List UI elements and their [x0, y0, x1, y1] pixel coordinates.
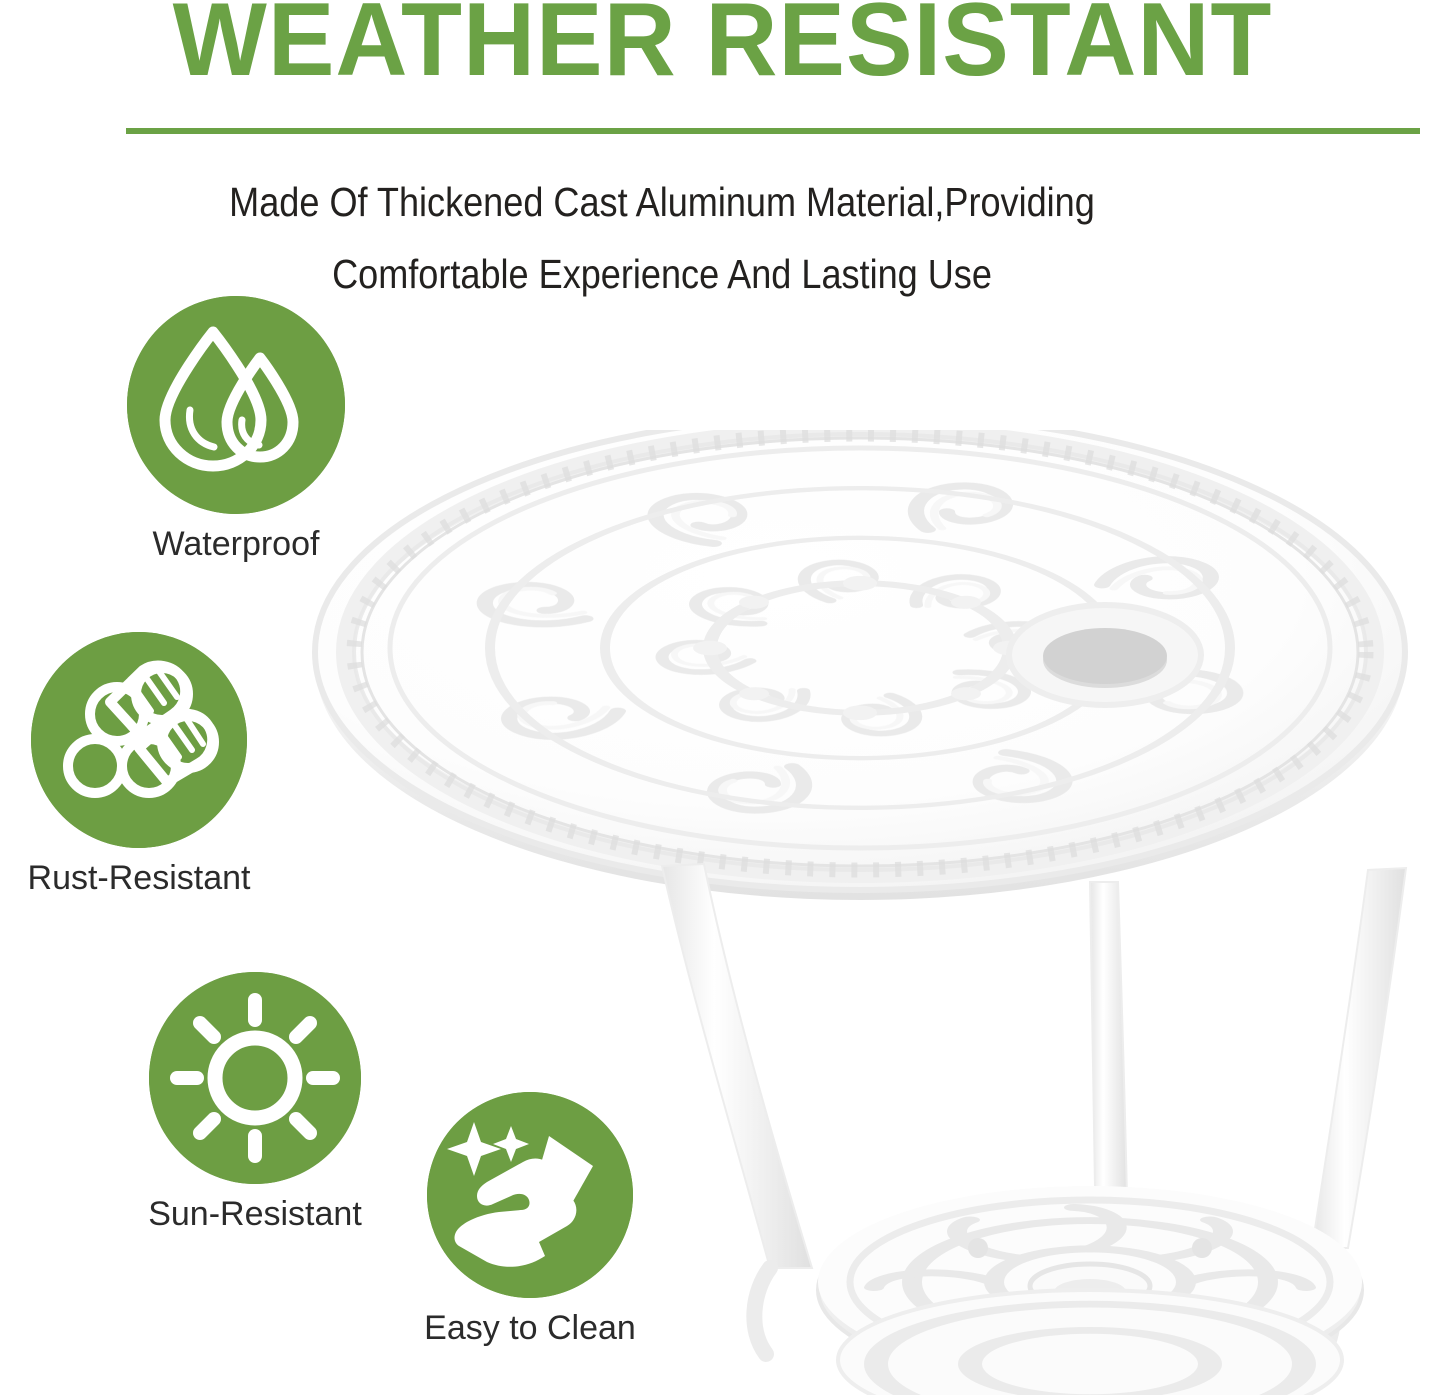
water-drops-icon	[127, 296, 345, 514]
sun-icon	[149, 972, 361, 1184]
feature-label-waterproof: Waterproof	[76, 522, 396, 566]
page-subtitle: Made Of Thickened Cast Aluminum Material…	[222, 166, 1102, 310]
stacked-logs-icon	[31, 632, 247, 848]
weather-resistant-infographic: WEATHER RESISTANT Made Of Thickened Cast…	[0, 0, 1445, 1395]
feature-label-rust-resistant: Rust-Resistant	[0, 856, 286, 900]
sun-resistant-badge	[149, 972, 361, 1184]
hand-wiping-cloth-icon	[427, 1092, 633, 1298]
waterproof-badge	[127, 296, 345, 514]
feature-label-sun-resistant: Sun-Resistant	[98, 1192, 412, 1236]
table-base-plate	[818, 1186, 1362, 1395]
feature-rust-resistant: Rust-Resistant	[0, 632, 286, 900]
feature-label-easy-to-clean: Easy to Clean	[392, 1306, 668, 1350]
umbrella-hole	[1009, 605, 1201, 705]
easy-to-clean-badge	[427, 1092, 633, 1298]
feature-easy-to-clean: Easy to Clean	[392, 1092, 668, 1350]
title-underline-rule	[126, 128, 1420, 134]
page-title: WEATHER RESISTANT	[29, 0, 1416, 96]
rust-resistant-badge	[31, 632, 247, 848]
feature-sun-resistant: Sun-Resistant	[98, 972, 412, 1236]
subtitle-line-1: Made Of Thickened Cast Aluminum Material…	[222, 166, 1102, 238]
feature-waterproof: Waterproof	[76, 296, 396, 566]
